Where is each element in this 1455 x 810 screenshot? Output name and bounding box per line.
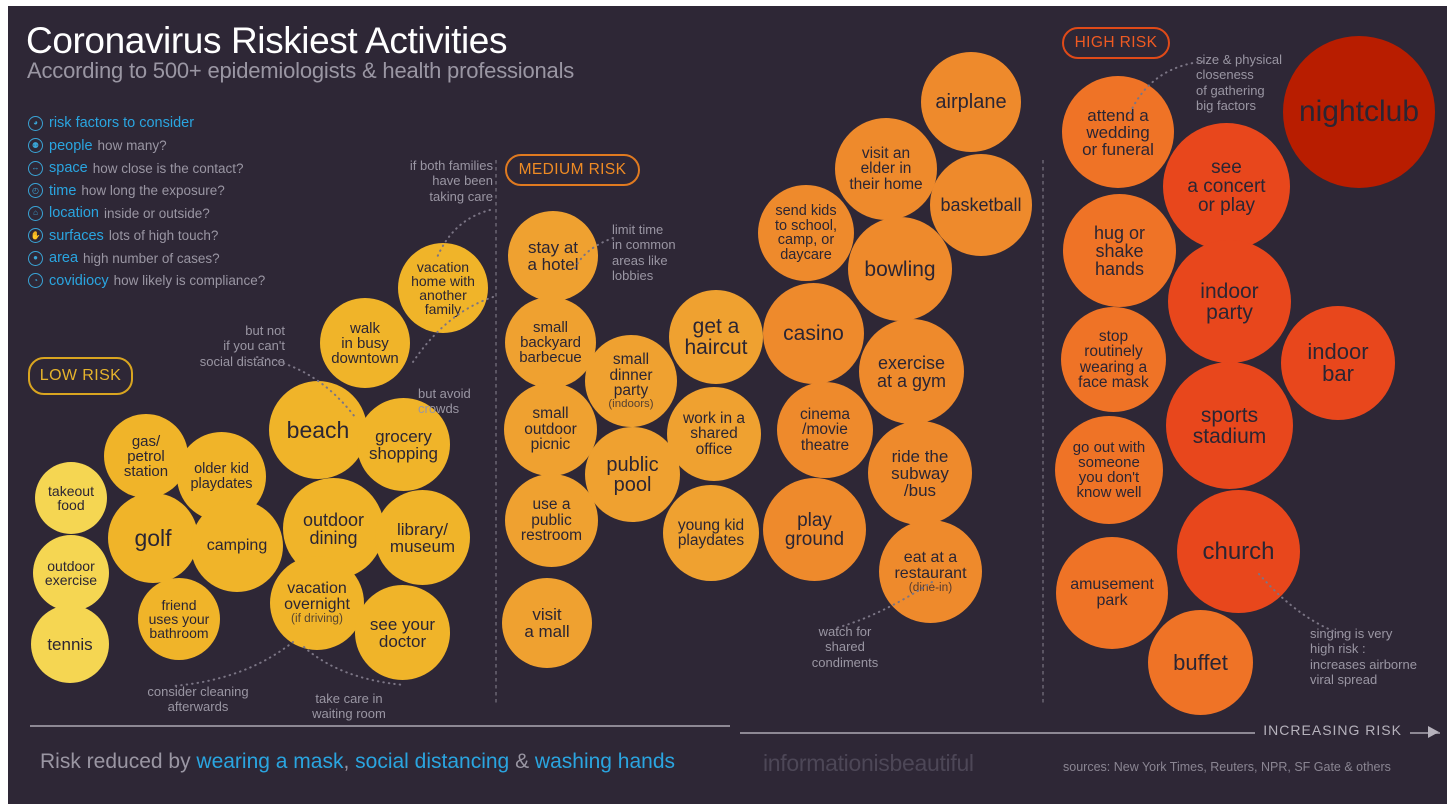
activity-bubble-text: cinema /movie theatre (800, 407, 850, 454)
activity-bubble[interactable]: golf (108, 493, 198, 583)
increasing-risk-label: INCREASING RISK (1255, 722, 1410, 738)
footer-note-prefix: Risk reduced by (40, 750, 196, 773)
activity-bubble-label: play ground (785, 510, 844, 550)
sources-line: sources: New York Times, Reuters, NPR, S… (1063, 760, 1391, 774)
head-icon: ◕ (28, 116, 43, 131)
risk-factor-desc: how close is the contact? (93, 161, 244, 176)
page-subtitle: According to 500+ epidemiologists & heal… (27, 58, 574, 84)
activity-bubble-label: cinema /movie theatre (800, 406, 850, 454)
activity-bubble-label: library/ museum (390, 520, 455, 556)
activity-bubble-text: stay at a hotel (527, 239, 578, 273)
activity-bubble-label: casino (783, 322, 844, 345)
activity-bubble-sublabel: (indoors) (608, 399, 653, 410)
activity-bubble-text: bowling (864, 259, 935, 280)
footer-sep-1: , (343, 750, 355, 773)
activity-bubble-sublabel: (if driving) (284, 613, 350, 625)
area-icon: ● (28, 251, 43, 266)
column-divider-medium-high (1042, 160, 1044, 705)
activity-bubble[interactable]: young kid playdates (663, 485, 759, 581)
activity-bubble[interactable]: indoor party (1168, 240, 1291, 363)
activity-bubble-label: small outdoor picnic (524, 405, 577, 453)
activity-bubble[interactable]: vacation overnight(if driving) (270, 556, 364, 650)
leader-line (255, 355, 375, 425)
activity-bubble-text: see a concert or play (1187, 158, 1265, 215)
leader-line (432, 208, 494, 268)
activity-bubble-text: basketball (940, 196, 1021, 214)
activity-bubble-text: nightclub (1299, 97, 1419, 127)
activity-bubble-label: eat at a restaurant (894, 549, 966, 582)
activity-bubble-label: camping (207, 537, 267, 554)
activity-bubble-label: go out with someone you don't know well (1073, 439, 1146, 501)
badge-medium-risk: MEDIUM RISK (505, 154, 640, 186)
activity-bubble-text: library/ museum (390, 521, 455, 555)
activity-bubble[interactable]: bowling (848, 217, 952, 321)
activity-bubble[interactable]: outdoor exercise (33, 535, 109, 611)
footer-highlight-washing: washing hands (535, 750, 675, 773)
footer-highlight-distancing: social distancing (355, 750, 509, 773)
activity-bubble[interactable]: gas/ petrol station (104, 414, 188, 498)
risk-factor-desc: how long the exposure? (81, 183, 224, 198)
location-icon: ⌂ (28, 206, 43, 221)
activity-bubble-text: young kid playdates (678, 518, 744, 549)
activity-bubble[interactable]: send kids to school, camp, or daycare (758, 185, 854, 281)
note-waiting-room: take care in waiting room (294, 691, 404, 722)
infographic-poster: Coronavirus Riskiest Activities Accordin… (0, 0, 1455, 810)
column-divider-low-medium (495, 160, 497, 705)
activity-bubble-label: use a public restroom (521, 496, 582, 544)
activity-bubble[interactable]: go out with someone you don't know well (1055, 416, 1163, 524)
activity-bubble-label: send kids to school, camp, or daycare (775, 203, 837, 263)
activity-bubble[interactable]: small outdoor picnic (504, 383, 597, 476)
risk-factor-term: people (49, 138, 93, 154)
activity-bubble[interactable]: cinema /movie theatre (777, 382, 873, 478)
risk-factor-row: ◕risk factors to consider (28, 112, 358, 135)
activity-bubble[interactable]: takeout food (35, 462, 107, 534)
activity-bubble-text: small backyard barbecue (519, 320, 582, 365)
footer-rule-left (30, 725, 730, 727)
activity-bubble-text: vacation overnight(if driving) (284, 581, 350, 625)
activity-bubble[interactable]: camping (191, 500, 283, 592)
activity-bubble-text: ride the subway /bus (891, 448, 949, 499)
activity-bubble-label: young kid playdates (678, 517, 744, 550)
activity-bubble-text: send kids to school, camp, or daycare (775, 204, 837, 262)
arrow-right-icon (1428, 726, 1439, 738)
people-icon: ⚉ (28, 138, 43, 153)
activity-bubble-label: buffet (1173, 650, 1228, 675)
activity-bubble-label: small dinner party (609, 351, 652, 399)
activity-bubble-text: visit a mall (524, 606, 569, 640)
leader-line (573, 232, 618, 274)
activity-bubble-text: outdoor dining (303, 511, 364, 547)
activity-bubble[interactable]: casino (763, 283, 864, 384)
activity-bubble-text: public pool (606, 455, 658, 495)
activity-bubble-label: grocery shopping (369, 427, 438, 463)
activity-bubble-text: takeout food (48, 484, 94, 512)
activity-bubble-text: casino (783, 323, 844, 344)
risk-factor-term: area (49, 250, 78, 266)
activity-bubble-label: gas/ petrol station (124, 433, 168, 480)
risk-factor-term: covidiocy (49, 273, 109, 289)
activity-bubble-text: visit an elder in their home (849, 146, 922, 193)
page-edge-top (0, 0, 1455, 6)
activity-bubble[interactable]: library/ museum (375, 490, 470, 585)
activity-bubble-label: exercise at a gym (877, 353, 946, 391)
activity-bubble[interactable]: play ground (763, 478, 866, 581)
activity-bubble[interactable]: use a public restroom (505, 474, 598, 567)
activity-bubble-label: visit a mall (524, 605, 569, 641)
space-icon: ↔ (28, 161, 43, 176)
activity-bubble-text: gas/ petrol station (124, 434, 168, 479)
activity-bubble-text: tennis (47, 636, 92, 653)
activity-bubble[interactable]: get a haircut (669, 290, 763, 384)
risk-factor-desc: how many? (98, 138, 167, 153)
activity-bubble-label: stay at a hotel (527, 238, 578, 274)
footer-sep-2: & (509, 750, 535, 773)
activity-bubble-text: use a public restroom (521, 497, 582, 544)
activity-bubble-text: airplane (935, 92, 1006, 112)
activity-bubble-label: nightclub (1299, 95, 1419, 128)
activity-bubble[interactable]: small dinner party(indoors) (585, 335, 677, 427)
activity-bubble-text: camping (207, 538, 267, 554)
surfaces-icon: ✋ (28, 228, 43, 243)
activity-bubble-text: small outdoor picnic (524, 406, 577, 453)
risk-factor-row: ⚉peoplehow many? (28, 135, 358, 158)
activity-bubble-text: buffet (1173, 652, 1228, 674)
activity-bubble-text: indoor bar (1307, 341, 1368, 385)
footer-highlight-mask: wearing a mask (196, 750, 343, 773)
time-icon: ◴ (28, 183, 43, 198)
activity-bubble[interactable]: stop routinely wearing a face mask (1061, 307, 1166, 412)
risk-factor-row: ◴timehow long the exposure? (28, 180, 358, 203)
activity-bubble[interactable]: hug or shake hands (1063, 194, 1176, 307)
footer-risk-reduction-note: Risk reduced by wearing a mask, social d… (40, 750, 675, 774)
activity-bubble[interactable]: basketball (930, 154, 1032, 256)
activity-bubble-label: takeout food (48, 483, 94, 513)
activity-bubble-label: outdoor exercise (45, 558, 97, 588)
activity-bubble-label: visit an elder in their home (849, 145, 922, 193)
activity-bubble-label: outdoor dining (303, 510, 364, 548)
activity-bubble[interactable]: buffet (1148, 610, 1253, 715)
activity-bubble-label: amusement park (1070, 576, 1154, 609)
activity-bubble-text: exercise at a gym (877, 354, 946, 390)
note-lobbies: limit time in common areas like lobbies (612, 222, 712, 283)
activity-bubble[interactable]: amusement park (1056, 537, 1168, 649)
activity-bubble-label: bowling (864, 258, 935, 281)
leader-line (1255, 570, 1350, 648)
activity-bubble-text: work in a shared office (683, 411, 745, 458)
activity-bubble-text: outdoor exercise (45, 559, 97, 587)
activity-bubble-label: get a haircut (684, 315, 747, 359)
activity-bubble-label: older kid playdates (190, 461, 252, 492)
activity-bubble[interactable]: small backyard barbecue (505, 297, 596, 388)
activity-bubble[interactable]: airplane (921, 52, 1021, 152)
risk-factors-list: ◕risk factors to consider⚉peoplehow many… (28, 112, 358, 292)
page-title: Coronavirus Riskiest Activities (26, 20, 507, 62)
activity-bubble-text: stop routinely wearing a face mask (1078, 329, 1149, 391)
activity-bubble-label: golf (134, 525, 171, 551)
activity-bubble-text: indoor party (1200, 281, 1258, 323)
activity-bubble-label: small backyard barbecue (519, 319, 582, 366)
activity-bubble-text: small dinner party(indoors) (608, 352, 653, 410)
activity-bubble[interactable]: visit an elder in their home (835, 118, 937, 220)
activity-bubble-text: go out with someone you don't know well (1073, 440, 1146, 500)
activity-bubble-text: amusement park (1070, 577, 1154, 609)
activity-bubble-label: airplane (935, 91, 1006, 113)
leader-line (165, 640, 295, 700)
activity-bubble-label: sports stadium (1193, 404, 1267, 448)
activity-bubble-label: indoor bar (1307, 339, 1368, 386)
activity-bubble-text: friend uses your bathroom (149, 598, 210, 640)
risk-factor-desc: inside or outside? (104, 206, 210, 221)
activity-bubble-label: tennis (47, 635, 92, 654)
activity-bubble[interactable]: public pool (585, 427, 680, 522)
risk-factor-row: ⌂locationinside or outside? (28, 202, 358, 225)
activity-bubble-label: basketball (940, 195, 1021, 215)
brand-logo-text: informationisbeautiful (763, 750, 974, 777)
activity-bubble-label: stop routinely wearing a face mask (1078, 328, 1149, 392)
risk-factor-desc: how likely is compliance? (114, 273, 266, 288)
activity-bubble[interactable]: exercise at a gym (859, 319, 964, 424)
leader-line (1128, 55, 1213, 117)
activity-bubble[interactable]: visit a mall (502, 578, 592, 668)
leader-line (300, 645, 410, 695)
covidiocy-icon: ◔ (28, 273, 43, 288)
badge-low-risk: LOW RISK (28, 357, 133, 395)
activity-bubble-text: hug or shake hands (1094, 224, 1145, 278)
risk-factor-desc: high number of cases? (83, 251, 220, 266)
risk-factor-term: risk factors to consider (49, 115, 194, 131)
page-edge-bottom (0, 804, 1455, 810)
activity-bubble-text: older kid playdates (190, 462, 252, 491)
page-edge-right (1447, 0, 1455, 810)
activity-bubble-label: hug or shake hands (1094, 223, 1145, 279)
leader-line (405, 295, 495, 375)
activity-bubble-text: grocery shopping (369, 428, 438, 462)
activity-bubble[interactable]: sports stadium (1166, 362, 1293, 489)
risk-factor-term: location (49, 205, 99, 221)
activity-bubble-label: see a concert or play (1187, 157, 1265, 216)
activity-bubble-text: golf (134, 527, 171, 550)
risk-factor-row: ●areahigh number of cases? (28, 247, 358, 270)
risk-factor-row: ↔spacehow close is the contact? (28, 157, 358, 180)
risk-factor-row: ✋surfaceslots of high touch? (28, 225, 358, 248)
activity-bubble-label: work in a shared office (683, 410, 745, 458)
risk-factor-desc: lots of high touch? (109, 228, 219, 243)
activity-bubble[interactable]: indoor bar (1281, 306, 1395, 420)
activity-bubble-label: church (1202, 538, 1274, 565)
risk-factor-row: ◔covidiocyhow likely is compliance? (28, 270, 358, 293)
activity-bubble-label: indoor party (1200, 280, 1258, 324)
leader-line (830, 580, 940, 640)
activity-bubble[interactable]: ride the subway /bus (868, 421, 972, 525)
note-avoid-crowds: but avoid crowds (418, 386, 508, 417)
activity-bubble-label: vacation overnight (284, 580, 350, 613)
note-both-families: if both families have been taking care (383, 158, 493, 204)
activity-bubble-label: public pool (606, 454, 658, 496)
activity-bubble[interactable]: work in a shared office (667, 387, 761, 481)
activity-bubble[interactable]: see a concert or play (1163, 123, 1290, 250)
activity-bubble-text: church (1202, 540, 1274, 564)
activity-bubble[interactable]: tennis (31, 605, 109, 683)
risk-factor-term: space (49, 160, 88, 176)
activity-bubble-text: play ground (785, 511, 844, 549)
page-edge-left (0, 0, 8, 810)
activity-bubble-text: get a haircut (684, 316, 747, 358)
risk-factor-term: time (49, 183, 76, 199)
activity-bubble-text: sports stadium (1193, 405, 1267, 447)
activity-bubble-label: ride the subway /bus (891, 447, 949, 500)
risk-factor-term: surfaces (49, 228, 104, 244)
activity-bubble-label: friend uses your bathroom (149, 597, 210, 641)
